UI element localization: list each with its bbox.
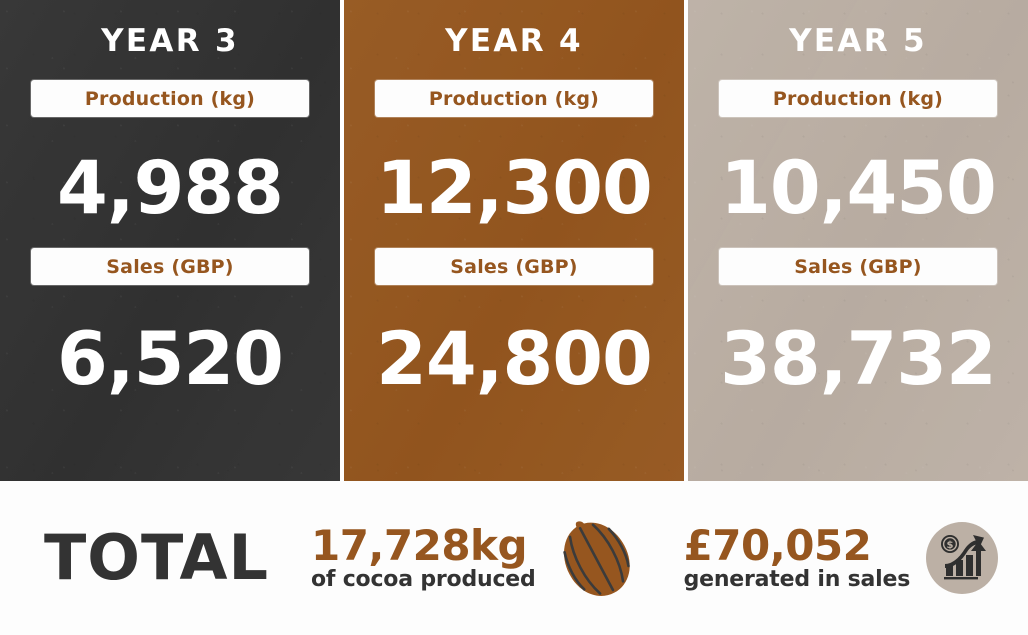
total-cocoa-caption: of cocoa produced [311, 568, 536, 592]
year-columns: YEAR 3 Production (kg) 4,988 Sales (GBP)… [0, 0, 1028, 481]
total-cocoa-text: 17,728kg of cocoa produced [311, 524, 536, 592]
cocoa-pod-icon [554, 512, 640, 604]
year-title: YEAR 5 [688, 0, 1028, 57]
total-sales-value: £70,052 [684, 524, 911, 568]
sales-value: 38,732 [688, 323, 1028, 396]
sales-label: Sales (GBP) [106, 256, 233, 278]
sales-label: Sales (GBP) [450, 256, 577, 278]
sales-label: Sales (GBP) [794, 256, 921, 278]
production-label-chip: Production (kg) [375, 80, 653, 117]
total-cocoa-value: 17,728kg [311, 524, 536, 568]
sales-label-chip: Sales (GBP) [719, 248, 997, 285]
production-value: 12,300 [344, 152, 684, 225]
year-column-3: YEAR 3 Production (kg) 4,988 Sales (GBP)… [0, 0, 340, 481]
production-value: 4,988 [0, 152, 340, 225]
production-label-chip: Production (kg) [31, 80, 309, 117]
production-value: 10,450 [688, 152, 1028, 225]
total-summary-band: TOTAL 17,728kg of cocoa produced [0, 481, 1028, 635]
sales-value: 6,520 [0, 323, 340, 396]
sales-value: 24,800 [344, 323, 684, 396]
production-label: Production (kg) [85, 88, 255, 110]
total-cocoa-stat: 17,728kg of cocoa produced [311, 512, 640, 604]
sales-label-chip: Sales (GBP) [375, 248, 653, 285]
production-label: Production (kg) [429, 88, 599, 110]
sales-label-chip: Sales (GBP) [31, 248, 309, 285]
total-sales-text: £70,052 generated in sales [684, 524, 911, 592]
total-heading: TOTAL [44, 527, 269, 589]
year-column-4: YEAR 4 Production (kg) 12,300 Sales (GBP… [344, 0, 684, 481]
production-label: Production (kg) [773, 88, 943, 110]
total-sales-stat: £70,052 generated in sales [684, 522, 999, 594]
total-sales-caption: generated in sales [684, 568, 911, 592]
sales-growth-icon: $ [926, 522, 998, 594]
production-label-chip: Production (kg) [719, 80, 997, 117]
year-column-5: YEAR 5 Production (kg) 10,450 Sales (GBP… [688, 0, 1028, 481]
year-title: YEAR 3 [0, 0, 340, 57]
cocoa-infographic: YEAR 3 Production (kg) 4,988 Sales (GBP)… [0, 0, 1028, 635]
svg-text:$: $ [947, 540, 954, 551]
year-title: YEAR 4 [344, 0, 684, 57]
